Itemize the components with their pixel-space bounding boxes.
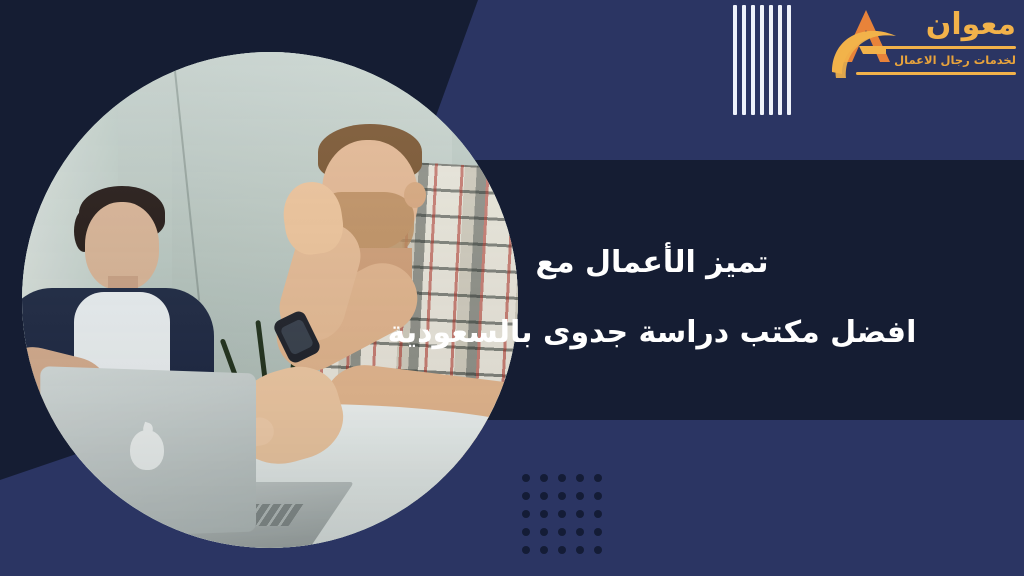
dot: [540, 510, 548, 518]
vertical-bar: [760, 5, 764, 115]
dot: [540, 474, 548, 482]
dot: [576, 492, 584, 500]
brand-logo[interactable]: معوان لخدمات رجال الاعمال: [820, 4, 1016, 98]
dot: [522, 492, 530, 500]
dot: [558, 474, 566, 482]
dot: [594, 546, 602, 554]
vertical-bar: [778, 5, 782, 115]
vertical-bar: [742, 5, 746, 115]
vertical-bar: [751, 5, 755, 115]
vertical-bars-icon: [733, 5, 791, 115]
dot: [594, 474, 602, 482]
dot: [576, 528, 584, 536]
dot: [558, 510, 566, 518]
dot: [558, 492, 566, 500]
brand-name: معوان: [856, 10, 1016, 40]
dot: [558, 528, 566, 536]
dot: [558, 546, 566, 554]
vertical-bar: [787, 5, 791, 115]
dot: [594, 528, 602, 536]
dot: [576, 474, 584, 482]
dot: [522, 546, 530, 554]
banner-canvas: معوان لخدمات رجال الاعمال تميز الأعمال م…: [0, 0, 1024, 576]
dot: [576, 510, 584, 518]
dot: [540, 528, 548, 536]
headline-line-2: افضل مكتب دراسة جدوى بالسعودية: [372, 314, 932, 352]
dot-grid-icon: [512, 474, 602, 564]
brand-logo-text: معوان لخدمات رجال الاعمال: [856, 10, 1016, 75]
vertical-bar: [769, 5, 773, 115]
brand-tagline: لخدمات رجال الاعمال: [856, 53, 1016, 67]
headline-line-1: تميز الأعمال مع: [372, 244, 932, 282]
dot: [522, 510, 530, 518]
dot: [522, 474, 530, 482]
logo-divider-bottom: [856, 72, 1016, 75]
dot: [576, 546, 584, 554]
vertical-bar: [733, 5, 737, 115]
dot: [540, 546, 548, 554]
dot: [540, 492, 548, 500]
logo-divider-top: [866, 46, 1016, 49]
dot: [594, 510, 602, 518]
dot: [522, 528, 530, 536]
dot: [594, 492, 602, 500]
headline: تميز الأعمال مع افضل مكتب دراسة جدوى بال…: [372, 244, 932, 351]
